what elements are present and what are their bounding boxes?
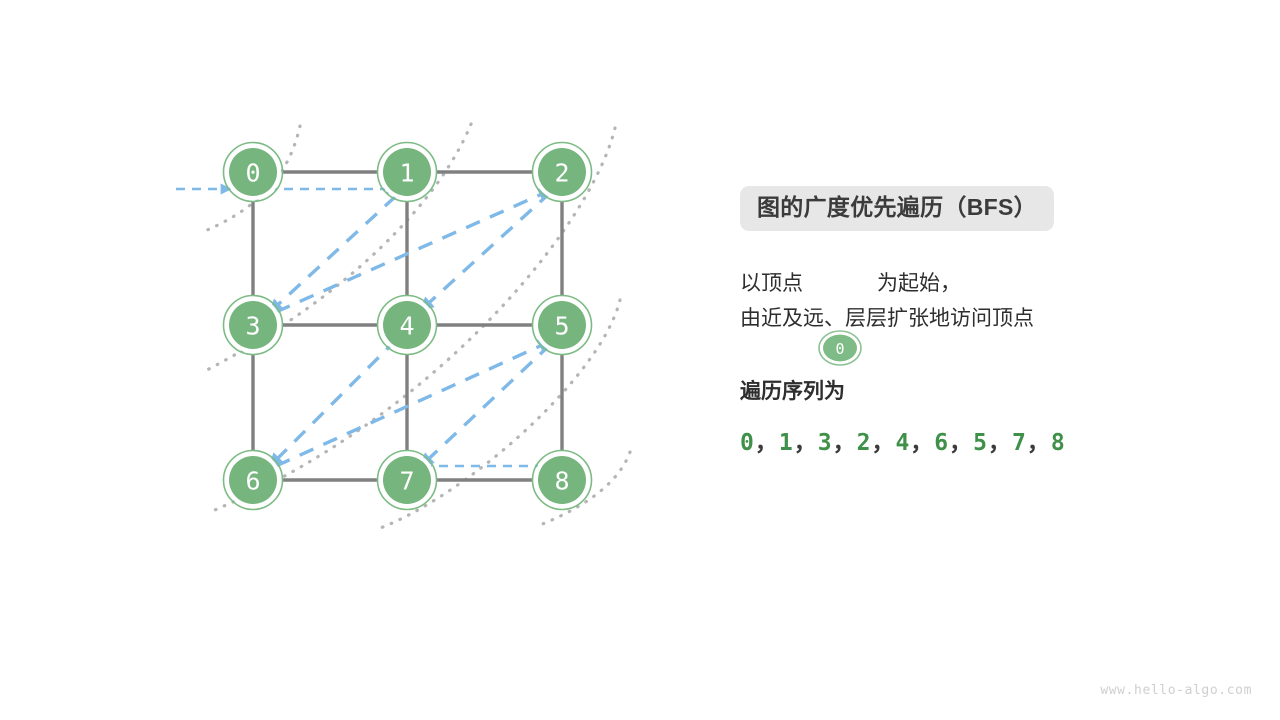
graph-node-3[interactable]: 3 xyxy=(224,296,283,355)
sequence-separator: ， xyxy=(833,430,857,456)
sequence-separator: ， xyxy=(1027,430,1051,456)
graph-nodes: 012345678 xyxy=(224,143,592,510)
traversal-arrow-6-to-5 xyxy=(276,341,551,466)
sequence-separator: ， xyxy=(910,430,934,456)
graph-node-6[interactable]: 6 xyxy=(224,451,283,510)
description-block: 以顶点 0 为起始， 由近及远、层层扩张地访问顶点 xyxy=(740,265,1240,335)
graph-node-8[interactable]: 8 xyxy=(533,451,592,510)
description-prefix: 以顶点 xyxy=(740,268,803,300)
sequence-heading: 遍历序列为 xyxy=(740,375,1240,405)
node-label: 0 xyxy=(245,159,260,188)
sequence-item: 6 xyxy=(934,430,949,456)
description-line-2-text: 由近及远、层层扩张地访问顶点 xyxy=(740,303,1034,335)
graph-node-7[interactable]: 7 xyxy=(378,451,437,510)
graph-node-5[interactable]: 5 xyxy=(533,296,592,355)
sequence-item: 8 xyxy=(1051,430,1066,456)
sequence-separator: ， xyxy=(755,430,779,456)
traversal-arrow-2-to-4 xyxy=(421,192,551,310)
info-panel: 图的广度优先遍历（BFS） 以顶点 0 为起始， 由近及远、层层扩张地访问顶点 … xyxy=(740,186,1240,457)
traversal-sequence: 0，1，3，2，4，6，5，7，8 xyxy=(740,423,1240,457)
node-label: 3 xyxy=(245,312,260,341)
sequence-separator: ， xyxy=(794,430,818,456)
description-line-2: 由近及远、层层扩张地访问顶点 xyxy=(740,303,1240,335)
watermark: www.hello-algo.com xyxy=(1100,683,1252,698)
page-title: 图的广度优先遍历（BFS） xyxy=(740,186,1054,231)
graph-node-4[interactable]: 4 xyxy=(378,296,437,355)
node-label: 8 xyxy=(554,467,569,496)
node-label: 7 xyxy=(399,467,414,496)
graph-node-0[interactable]: 0 xyxy=(224,143,283,202)
graph-node-1[interactable]: 1 xyxy=(378,143,437,202)
sequence-item: 5 xyxy=(973,430,988,456)
svg-text:0: 0 xyxy=(835,340,844,358)
description-line-1: 以顶点 0 为起始， xyxy=(740,265,1240,303)
bfs-illustration: 012345678 图的广度优先遍历（BFS） 以顶点 0 为起始， 由近及远、… xyxy=(0,0,1280,720)
sequence-item: 4 xyxy=(895,430,910,456)
node-label: 1 xyxy=(399,159,414,188)
sequence-separator: ， xyxy=(949,430,973,456)
graph-node-2[interactable]: 2 xyxy=(533,143,592,202)
start-vertex-chip: 0 xyxy=(817,265,863,303)
sequence-item: 0 xyxy=(740,430,755,456)
node-label: 5 xyxy=(554,312,569,341)
description-suffix: 为起始， xyxy=(877,268,961,300)
traversal-arrow-5-to-7 xyxy=(421,344,551,466)
traversal-arrow-3-to-2 xyxy=(276,190,551,312)
sequence-separator: ， xyxy=(871,430,895,456)
node-label: 4 xyxy=(399,312,414,341)
sequence-item: 2 xyxy=(857,430,872,456)
sequence-item: 1 xyxy=(779,430,794,456)
sequence-item: 7 xyxy=(1012,430,1027,456)
sequence-item: 3 xyxy=(818,430,833,456)
node-label: 2 xyxy=(554,159,569,188)
node-label: 6 xyxy=(245,467,260,496)
traversal-arrow-1-to-3 xyxy=(270,196,396,312)
sequence-separator: ， xyxy=(988,430,1012,456)
